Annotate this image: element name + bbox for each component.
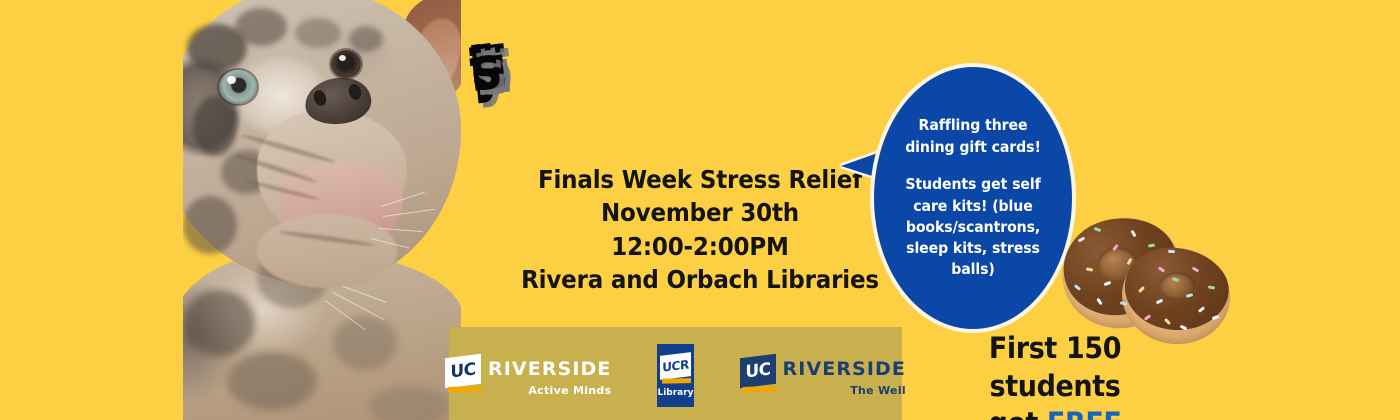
event-date: November 30th	[516, 196, 884, 229]
dog-merle-spot	[295, 18, 341, 48]
dog-merle-spot	[193, 96, 237, 156]
cta-line-2: get FREE donuts!	[929, 405, 1180, 420]
speech-bubble-text: Raffling three dining gift cards! Studen…	[889, 115, 1057, 281]
title-letter: T	[468, 37, 509, 101]
title-letter: r	[467, 38, 498, 101]
dog-eye-left	[219, 70, 257, 104]
sponsor-logo-bar: UC RIVERSIDE Active Minds UCR Library UC	[449, 327, 902, 420]
dog-merle-spot	[183, 196, 237, 254]
logo-ucr-library: UCR Library	[657, 344, 693, 407]
event-location: Rivera and Orbach Libraries	[516, 263, 884, 296]
uc-mark-icon: UC	[740, 353, 776, 387]
title-letter: F	[468, 37, 509, 101]
uc-mark-label: UC	[450, 359, 475, 382]
library-label: Library	[657, 388, 693, 398]
dog-neck-marking	[227, 352, 317, 410]
page-title: Therapy Fluffies	[468, 18, 898, 114]
logo-wordmark-group: RIVERSIDE Active Minds	[488, 356, 611, 396]
title-letter: e	[468, 37, 509, 101]
dog-neck-marking	[333, 316, 397, 370]
title-letter: p	[468, 37, 510, 101]
cta-line-1: First 150 students	[929, 330, 1180, 405]
cta-highlight: FREE	[1047, 406, 1122, 420]
title-letter: y	[468, 37, 507, 101]
title-letter: i	[466, 39, 490, 101]
title-letter: a	[468, 37, 508, 101]
self-care-kit-note: Students get self care kits! (blue books…	[894, 174, 1052, 280]
ucr-swoosh-icon	[662, 375, 691, 387]
speech-bubble: Raffling three dining gift cards! Studen…	[840, 52, 1090, 344]
title-letter: h	[468, 37, 510, 101]
logo-wordmark: RIVERSIDE	[488, 360, 611, 379]
cta-prefix: get	[989, 406, 1047, 420]
logo-subunit: Active Minds	[488, 385, 611, 396]
uc-mark-icon: UC	[445, 353, 481, 387]
logo-subunit: The Well	[783, 385, 906, 396]
title-letter: f	[467, 38, 495, 101]
dog-photo	[183, 0, 461, 420]
logo-uc-riverside-active-minds: UC RIVERSIDE Active Minds	[445, 356, 611, 396]
dog-illustration	[183, 0, 461, 420]
logo-wordmark-group: RIVERSIDE The Well	[783, 356, 906, 396]
logo-wordmark: RIVERSIDE	[783, 360, 906, 379]
event-time: 12:00-2:00PM	[516, 230, 884, 263]
uc-mark-label: UC	[745, 359, 770, 382]
dog-neck-marking	[369, 386, 449, 420]
title-letter: u	[468, 37, 510, 101]
dog-eye-glint	[227, 76, 236, 84]
title-letter	[466, 39, 490, 101]
title-letter: s	[468, 37, 504, 101]
therapy-fluffies-banner: Therapy Fluffies Finals Week Stress Reli…	[0, 0, 1400, 420]
donuts-graphic	[1060, 216, 1230, 336]
dog-merle-spot	[349, 26, 383, 52]
donut-sprinkle	[1168, 250, 1175, 254]
dog-eye-right	[331, 50, 361, 78]
title-letter: e	[468, 37, 509, 101]
dog-eye-glint	[339, 55, 346, 61]
event-tagline: Finals Week Stress Relief	[516, 163, 884, 196]
raffle-note: Raffling three dining gift cards!	[894, 115, 1052, 158]
free-donuts-callout: First 150 students get FREE donuts!	[920, 330, 1190, 420]
title-letter: l	[466, 39, 490, 101]
ucr-mark-label: UCR	[662, 357, 689, 374]
logo-uc-riverside-the-well: UC RIVERSIDE The Well	[740, 356, 906, 396]
ucr-mark-icon: UCR	[660, 352, 691, 380]
dog-chin	[257, 214, 397, 288]
dog-neck-marking	[183, 290, 255, 356]
speech-bubble-body: Raffling three dining gift cards! Studen…	[870, 63, 1076, 333]
title-letter: f	[467, 38, 495, 101]
dog-merle-spot	[235, 8, 287, 46]
